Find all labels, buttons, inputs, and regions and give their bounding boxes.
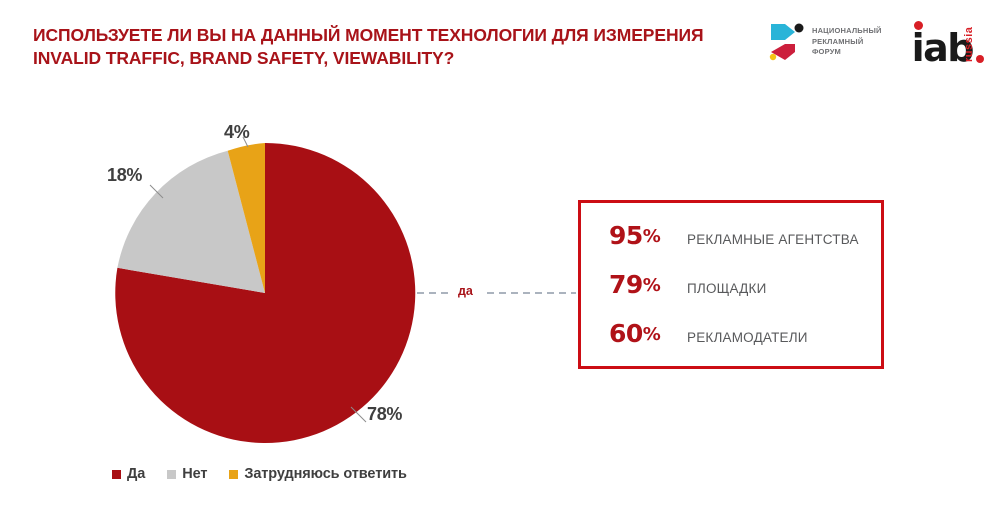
national-advertising-forum-logo: НАЦИОНАЛЬНЫЙ РЕКЛАМНЫЙ ФОРУМ: [769, 22, 882, 62]
pie-data-label-no: 18%: [107, 165, 142, 186]
callout-row-publishers: 79% ПЛОЩАДКИ: [609, 270, 881, 299]
pie-data-label-yes: 78%: [367, 404, 402, 425]
iab-russia-suffix: russia: [963, 27, 975, 62]
leader-line-yes: [351, 407, 366, 422]
page-title: ИСПОЛЬЗУЕТЕ ЛИ ВЫ НА ДАННЫЙ МОМЕНТ ТЕХНО…: [33, 24, 723, 70]
legend-swatch-hard-icon: [229, 470, 238, 479]
pie-slice-hard: [228, 143, 265, 293]
legend-item-yes[interactable]: Да: [112, 466, 145, 482]
logo-bar: НАЦИОНАЛЬНЫЙ РЕКЛАМНЫЙ ФОРУМ iab russia: [769, 16, 973, 68]
leader-line-no: [150, 185, 163, 198]
callout-box: 95% РЕКЛАМНЫЕ АГЕНТСТВА 79% ПЛОЩАДКИ 60%…: [578, 200, 884, 369]
iab-dot-secondary-icon: [976, 55, 984, 63]
legend-label-no: Нет: [182, 466, 207, 482]
callout-rows: 95% РЕКЛАМНЫЕ АГЕНТСТВА 79% ПЛОЩАДКИ 60%…: [581, 203, 881, 366]
iab-russia-logo: iab russia: [912, 19, 973, 65]
nrf-mark-icon: [769, 22, 805, 62]
nrf-logo-text: НАЦИОНАЛЬНЫЙ РЕКЛАМНЫЙ ФОРУМ: [812, 26, 882, 58]
pie-slice-yes: [115, 143, 415, 443]
legend-item-hard[interactable]: Затрудняюсь ответить: [229, 466, 406, 482]
legend-label-yes: Да: [127, 466, 145, 482]
callout-label-advertisers: РЕКЛАМОДАТЕЛИ: [687, 330, 808, 345]
callout-label-agencies: РЕКЛАМНЫЕ АГЕНТСТВА: [687, 232, 859, 247]
legend-item-no[interactable]: Нет: [167, 466, 207, 482]
callout-value-agencies: 95%: [609, 221, 675, 250]
chart-legend: Да Нет Затрудняюсь ответить: [112, 466, 407, 482]
callout-label-publishers: ПЛОЩАДКИ: [687, 281, 766, 296]
callout-row-agencies: 95% РЕКЛАМНЫЕ АГЕНТСТВА: [609, 221, 881, 250]
legend-swatch-yes-icon: [112, 470, 121, 479]
callout-value-publishers: 79%: [609, 270, 675, 299]
connector-label-yes: да: [458, 284, 473, 298]
legend-label-hard: Затрудняюсь ответить: [244, 466, 406, 482]
pie-data-label-hard: 4%: [224, 122, 249, 143]
iab-dot-icon: [914, 21, 923, 30]
callout-row-advertisers: 60% РЕКЛАМОДАТЕЛИ: [609, 319, 881, 348]
callout-value-advertisers: 60%: [609, 319, 675, 348]
legend-swatch-no-icon: [167, 470, 176, 479]
